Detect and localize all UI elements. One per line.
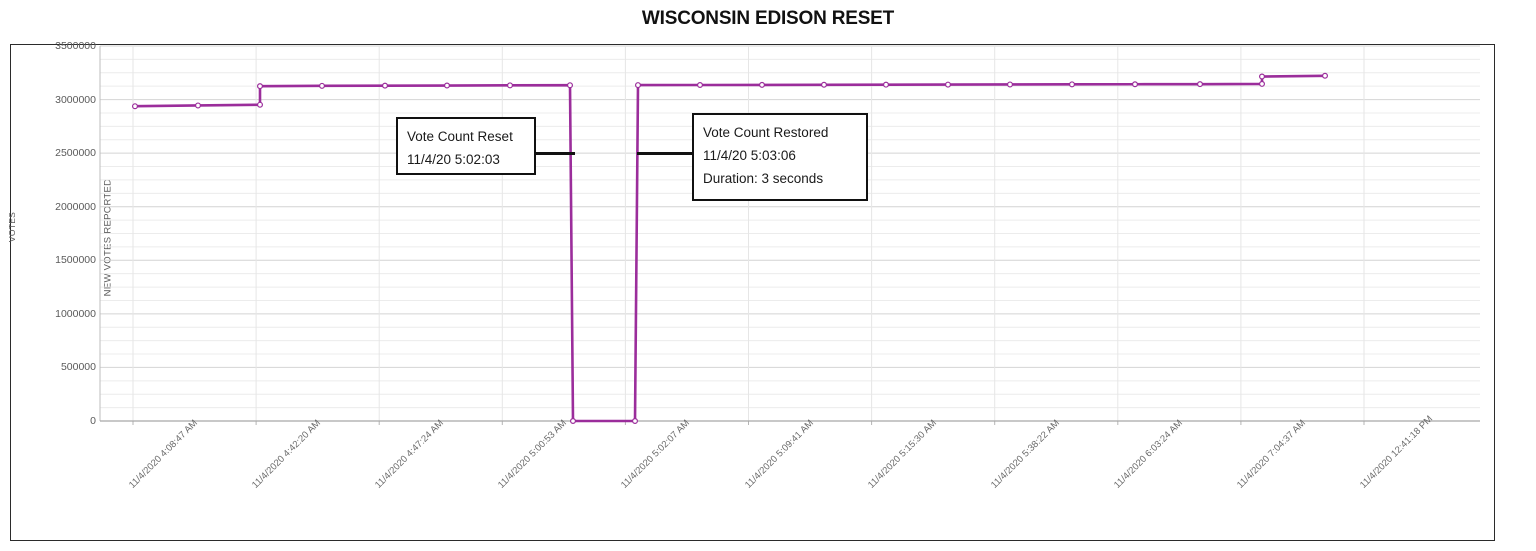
data-point-marker[interactable] [568, 83, 573, 88]
annotation-callout-vote-count-reset[interactable]: Vote Count Reset11/4/20 5:02:03 [396, 117, 536, 175]
annotation-text-line: Vote Count Restored [703, 121, 857, 144]
chart-title: WISCONSIN EDISON RESET [0, 8, 1536, 30]
data-point-marker[interactable] [1070, 82, 1075, 87]
data-point-marker[interactable] [1260, 82, 1265, 87]
data-point-marker[interactable] [1008, 82, 1013, 87]
data-point-marker[interactable] [698, 83, 703, 88]
data-point-marker[interactable] [1198, 82, 1203, 87]
data-point-marker[interactable] [1133, 82, 1138, 87]
data-point-marker[interactable] [258, 84, 263, 89]
data-point-marker[interactable] [822, 82, 827, 87]
data-point-marker[interactable] [571, 419, 576, 424]
data-point-marker[interactable] [884, 82, 889, 87]
annotation-text-line: 11/4/20 5:03:06 [703, 144, 857, 167]
data-point-marker[interactable] [508, 83, 513, 88]
chart-root: WISCONSIN EDISON RESET VOTES NEW VOTES R… [0, 0, 1536, 551]
data-point-marker[interactable] [636, 83, 641, 88]
data-point-marker[interactable] [1323, 73, 1328, 78]
data-point-marker[interactable] [760, 82, 765, 87]
data-point-marker[interactable] [196, 103, 201, 108]
data-point-marker[interactable] [320, 83, 325, 88]
annotation-callout-vote-count-restored[interactable]: Vote Count Restored11/4/20 5:03:06Durati… [692, 113, 868, 201]
data-point-marker[interactable] [383, 83, 388, 88]
annotation-text-line: Vote Count Reset [407, 125, 525, 148]
data-point-marker[interactable] [133, 104, 138, 109]
annotation-leader-line [637, 152, 693, 155]
annotation-leader-line [535, 152, 575, 155]
data-point-marker[interactable] [633, 419, 638, 424]
data-point-marker[interactable] [445, 83, 450, 88]
annotation-text-line: 11/4/20 5:02:03 [407, 148, 525, 171]
annotation-text-line: Duration: 3 seconds [703, 167, 857, 190]
data-point-marker[interactable] [1260, 74, 1265, 79]
data-point-marker[interactable] [946, 82, 951, 87]
data-point-marker[interactable] [258, 102, 263, 107]
